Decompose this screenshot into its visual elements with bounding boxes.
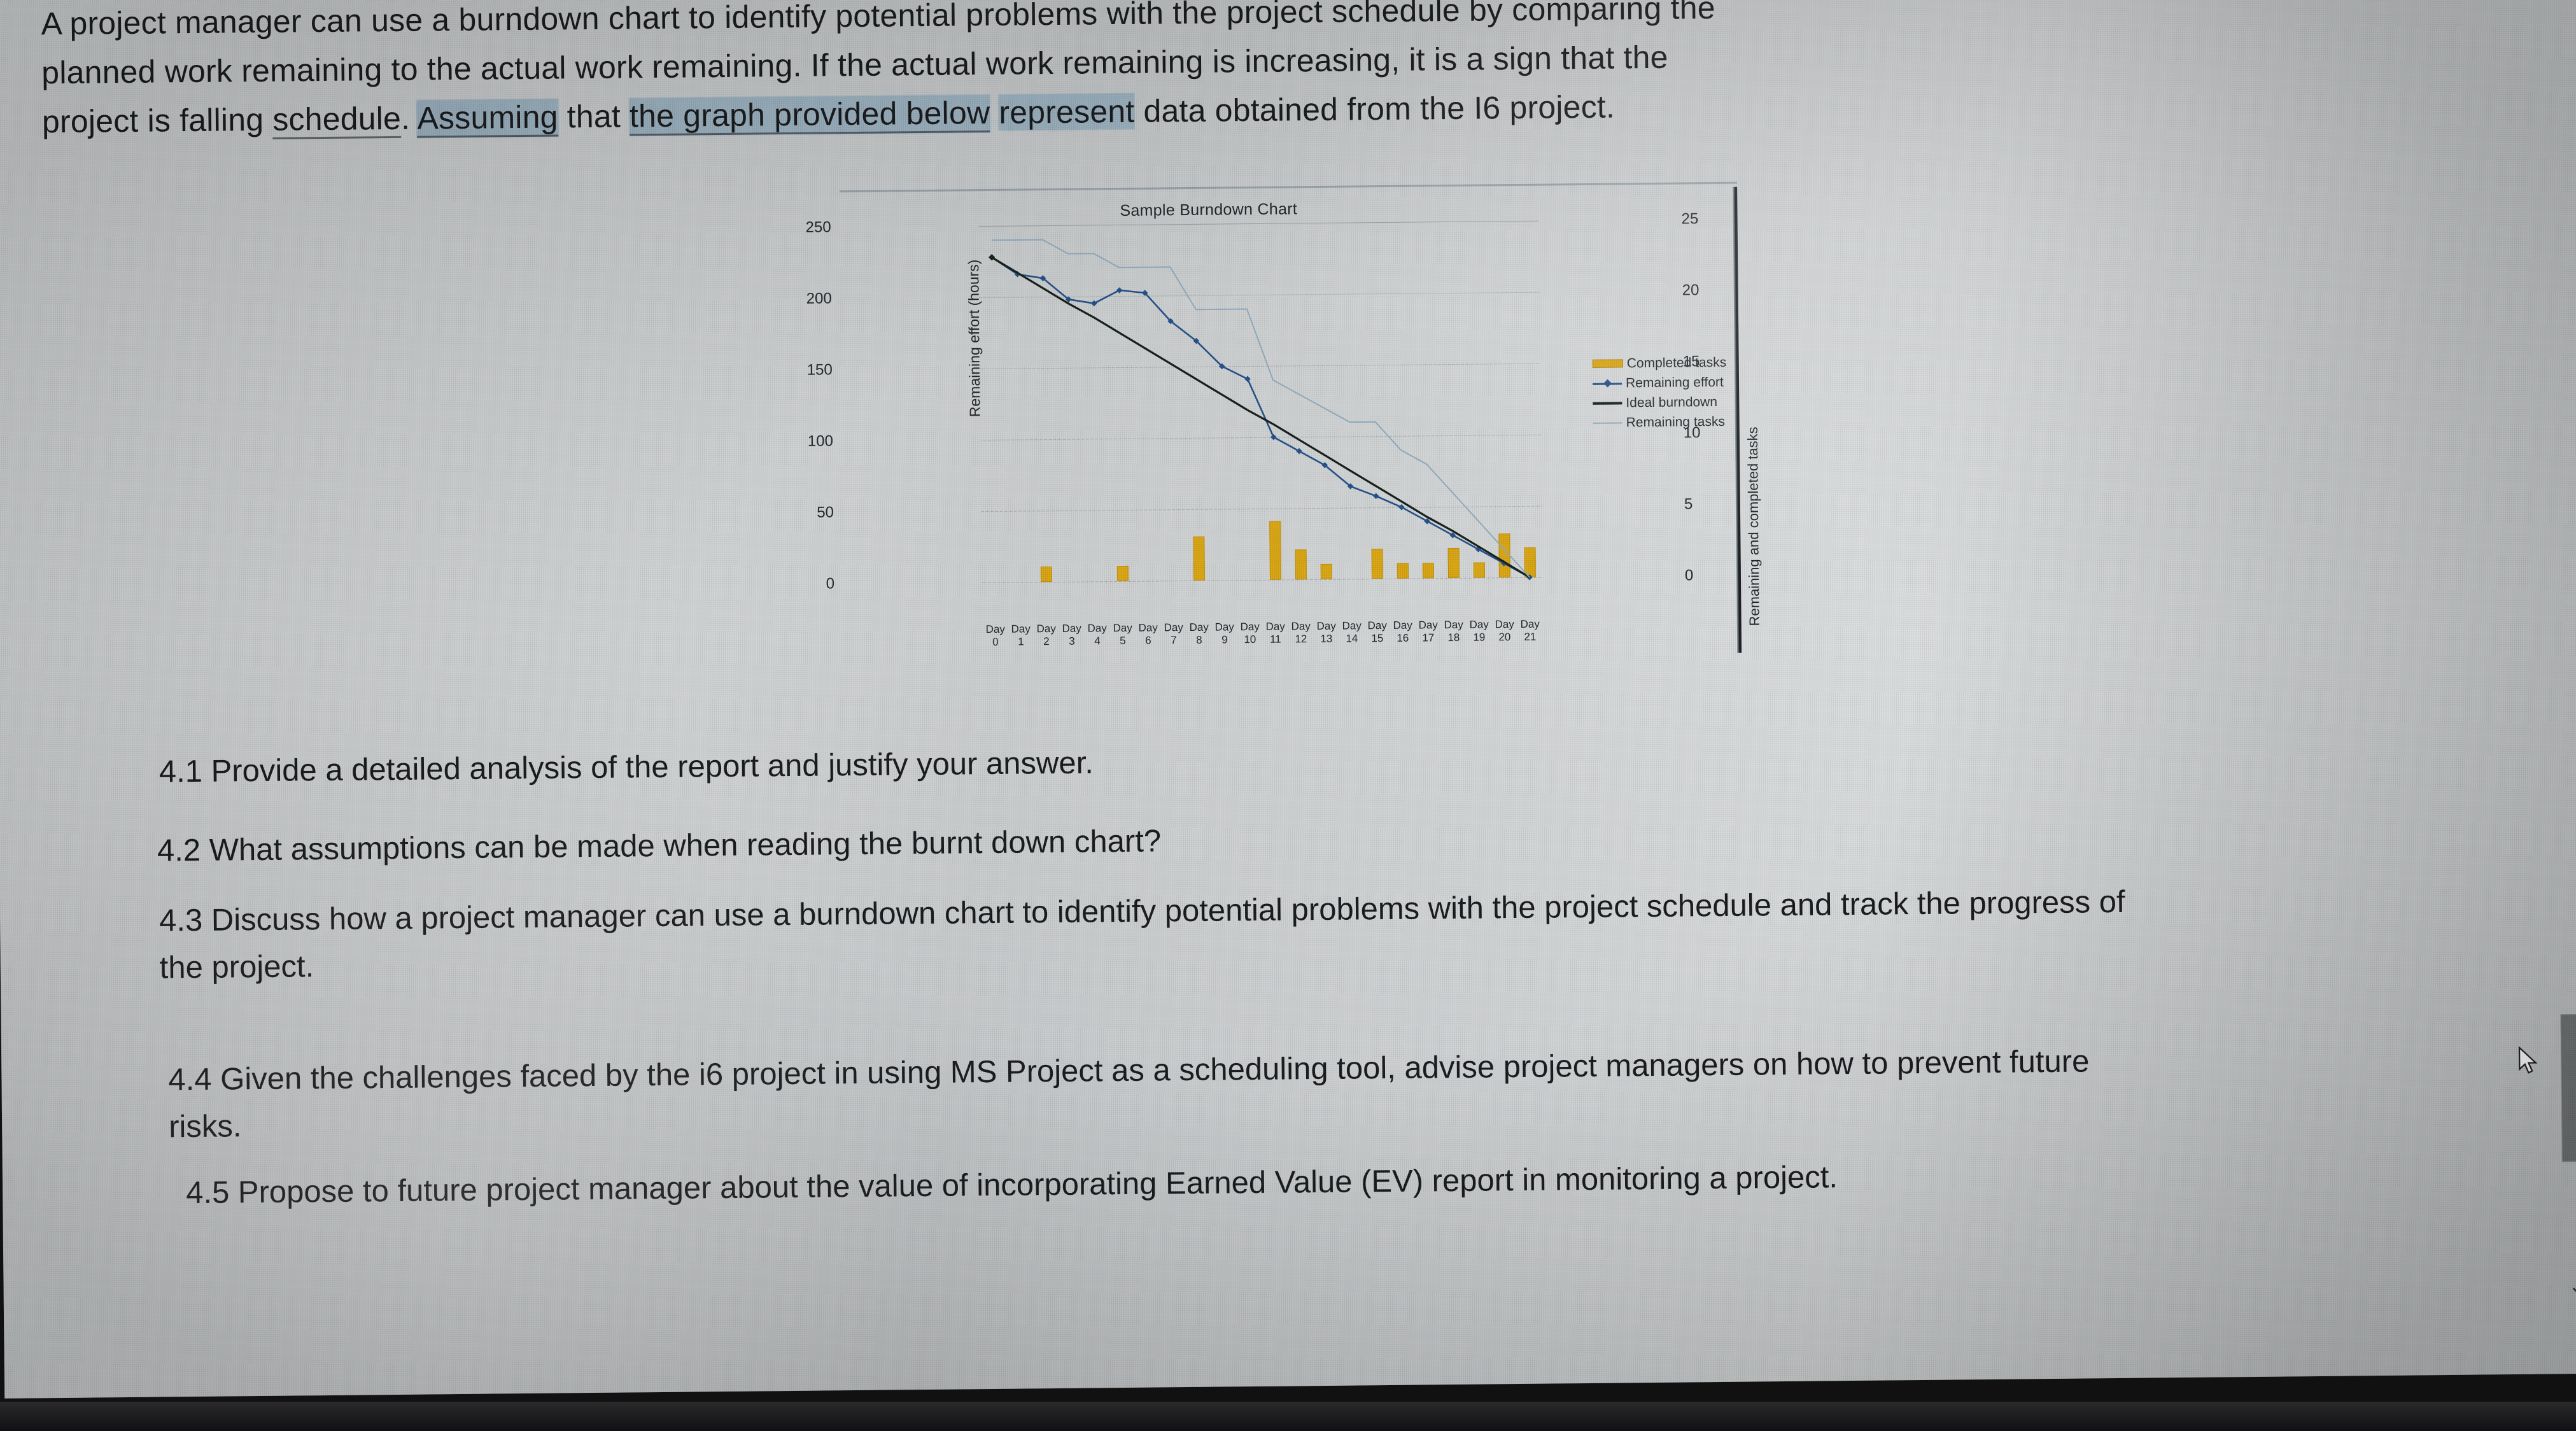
legend-item-completed-tasks: Completed tasks (1593, 353, 1739, 374)
secondary-y-tick-label: 25 (1681, 210, 1698, 228)
secondary-y-tick-label: 20 (1682, 281, 1700, 299)
series-marker (1244, 376, 1251, 382)
intro-line-3-text-d (990, 95, 999, 130)
chart-top-border (840, 182, 1737, 193)
series-marker (1116, 287, 1123, 293)
secondary-y-tick-label: 0 (1685, 567, 1694, 584)
intro-highlight-c: represent (999, 94, 1135, 130)
series-marker (1091, 300, 1097, 307)
question-4-4: 4.4 Given the challenges faced by the i6… (168, 1038, 2142, 1151)
secondary-y-axis-label: Remaining and completed tasks (1745, 426, 1763, 626)
legend-swatch-line-black-icon (1593, 398, 1622, 407)
intro-line-3-text-c: that (558, 98, 630, 134)
intro-paragraph: A project manager can use a burndown cha… (41, 0, 1843, 146)
series-marker (1296, 448, 1302, 455)
legend-label-completed-tasks: Completed tasks (1627, 355, 1727, 371)
scroll-down-arrow-icon[interactable]: ⌄ (2568, 1275, 2576, 1297)
burndown-chart-object[interactable]: Sample Burndown Chart Remaining effort (… (840, 182, 1742, 662)
mouse-cursor-icon (2517, 1047, 2539, 1076)
intro-line-3-text-e: data obtained from the I6 project. (1134, 89, 1615, 129)
chart-legend: Completed tasks Remaining effort Ideal b… (1593, 353, 1740, 433)
question-4-3: 4.3 Discuss how a project manager can us… (159, 878, 2133, 992)
legend-swatch-line-lightblue-icon (1593, 418, 1622, 427)
legend-swatch-bar-icon (1593, 359, 1623, 367)
chart-title: Sample Burndown Chart (1120, 200, 1297, 220)
intro-highlight-a: Assuming (417, 99, 558, 137)
scrollbar-thumb[interactable] (2561, 1014, 2576, 1162)
y-tick-label: 150 (807, 361, 833, 379)
legend-label-ideal-burndown: Ideal burndown (1626, 394, 1717, 410)
legend-item-remaining-tasks: Remaining tasks (1593, 412, 1740, 433)
series-marker (1398, 504, 1405, 511)
y-tick-label: 100 (808, 432, 833, 450)
intro-highlight-b: the graph provided below (630, 95, 990, 136)
question-4-2: 4.2 What assumptions can be made when re… (157, 817, 1162, 874)
chart-series-lines (979, 221, 1542, 582)
monitor-screen: A project manager can use a burndown cha… (0, 0, 2576, 1399)
chart-plot-area: Remaining effort (hours) Remaining and c… (979, 221, 1542, 582)
secondary-y-tick-label: 5 (1684, 495, 1693, 513)
chart-frame: Sample Burndown Chart Remaining effort (… (840, 182, 1742, 662)
y-tick-label: 200 (806, 290, 832, 307)
question-4-1: 4.1 Provide a detailed analysis of the r… (158, 739, 1094, 795)
legend-swatch-line-marker-icon (1593, 379, 1622, 388)
legend-label-remaining-tasks: Remaining tasks (1626, 414, 1725, 430)
legend-label-remaining-effort: Remaining effort (1626, 374, 1724, 390)
series-marker (1373, 493, 1379, 499)
y-tick-label: 0 (826, 575, 835, 593)
legend-item-ideal-burndown: Ideal burndown (1593, 392, 1739, 413)
x-category-label: Day21 (1512, 618, 1549, 644)
question-4-5: 4.5 Propose to future project manager ab… (186, 1153, 1838, 1216)
intro-line-3-text: project is falling (42, 102, 273, 139)
monitor-bezel (0, 1402, 2576, 1431)
photographed-screen: A project manager can use a burndown cha… (0, 0, 2576, 1431)
y-tick-label: 50 (817, 504, 834, 521)
y-tick-label: 250 (805, 218, 831, 236)
document-page: A project manager can use a burndown cha… (0, 0, 2576, 1399)
series-marker (1270, 434, 1277, 441)
intro-line-3-text-b: . (401, 101, 418, 136)
legend-item-remaining-effort: Remaining effort (1593, 372, 1739, 393)
intro-underlined-a: schedule (272, 101, 401, 139)
